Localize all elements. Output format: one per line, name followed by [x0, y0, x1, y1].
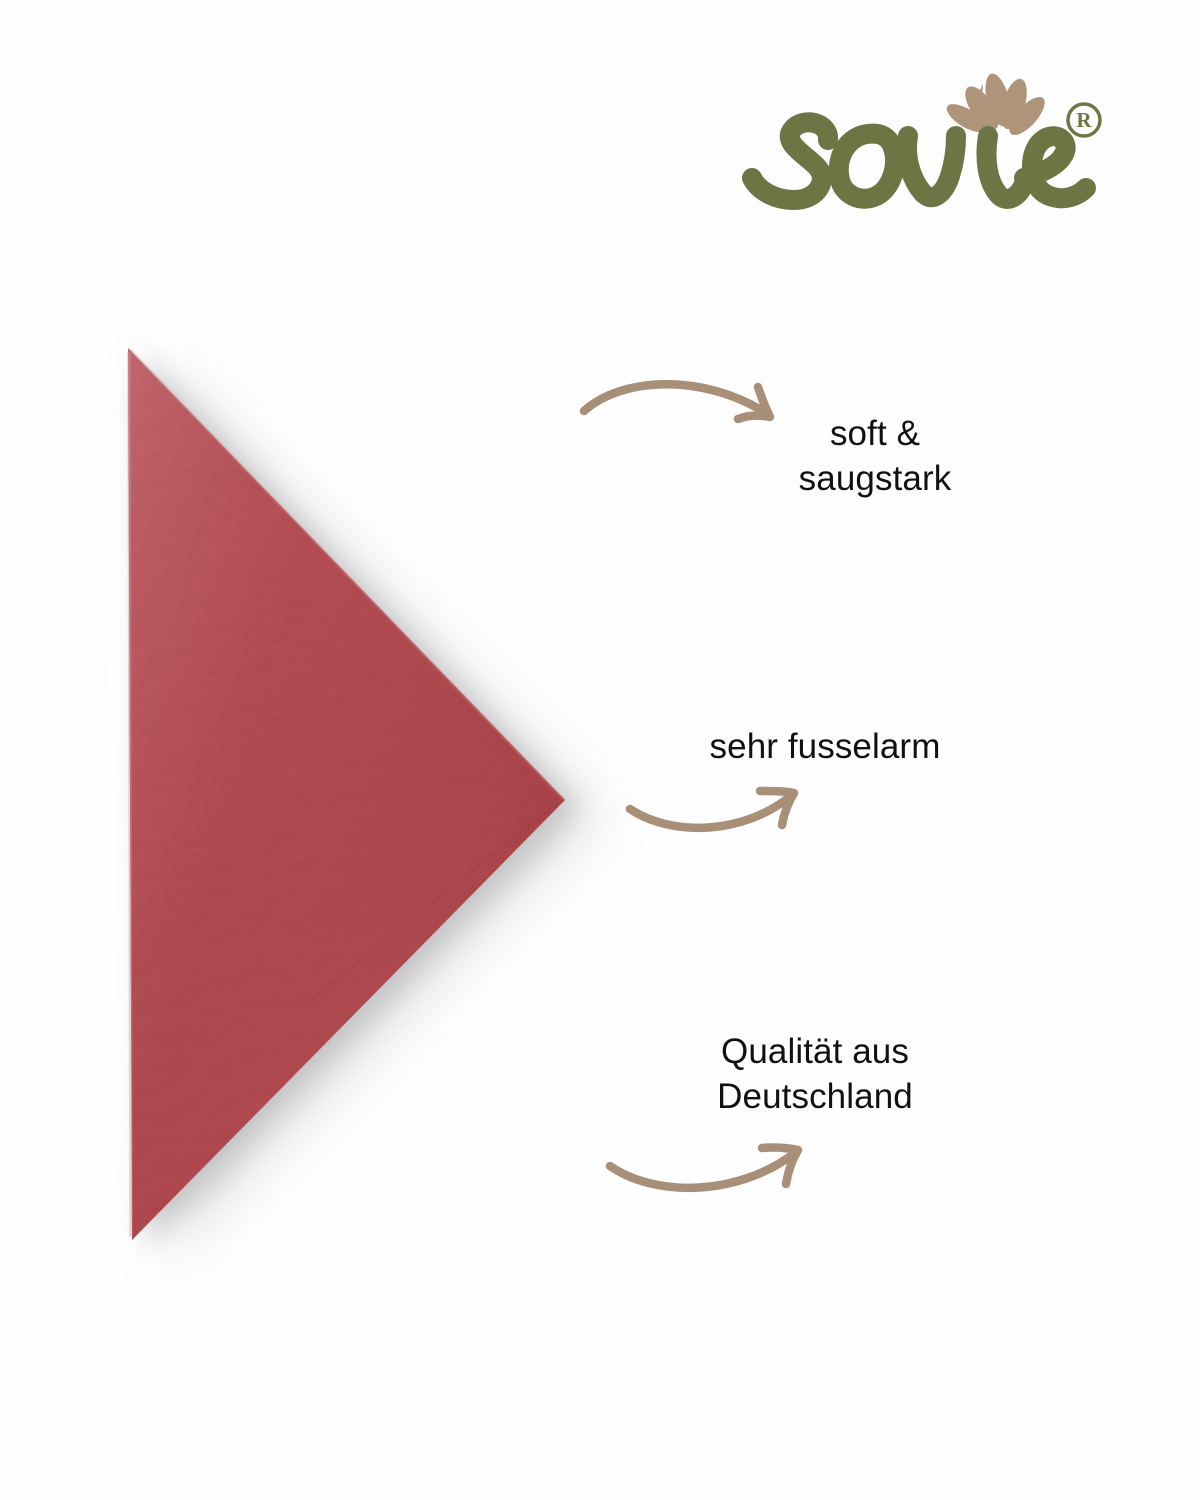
registered-trademark-glyph: R [1076, 108, 1092, 132]
product-feature-graphic: R [0, 0, 1200, 1500]
feature-label-german-quality: Qualität aus Deutschland [650, 1030, 980, 1120]
curved-arrow-up-right-icon [620, 783, 810, 843]
feature-callout-low-lint: sehr fusselarm [600, 725, 990, 850]
feature-label-softness: soft & saugstark [760, 412, 990, 502]
brand-logo[interactable]: R [726, 72, 1116, 232]
curved-arrow-down-right-icon [570, 365, 790, 445]
napkin-body [105, 340, 580, 1250]
curved-arrow-up-right-icon [600, 1140, 815, 1205]
feature-label-low-lint: sehr fusselarm [660, 725, 990, 770]
brand-wordmark [752, 122, 1086, 200]
feature-callout-softness: soft & saugstark [560, 360, 990, 510]
feature-callout-german-quality: Qualität aus Deutschland [590, 1030, 990, 1220]
